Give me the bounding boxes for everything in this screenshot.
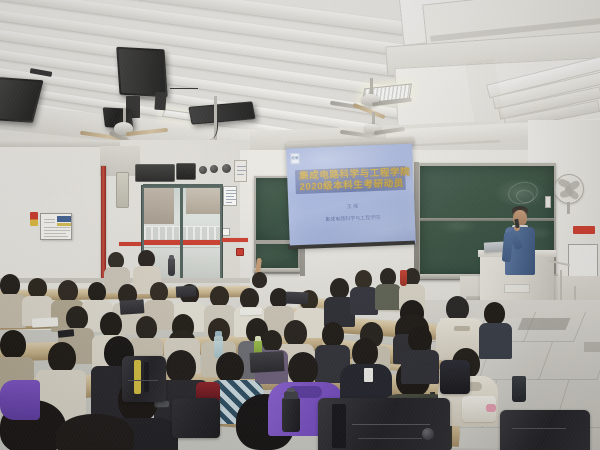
floor-mat	[584, 342, 600, 352]
slide-logo-icon: 校徽	[290, 153, 299, 164]
podium-label	[504, 284, 530, 293]
fire-alarm	[236, 248, 244, 256]
backpack	[172, 398, 220, 438]
notebook	[32, 317, 58, 327]
laptop	[249, 351, 284, 373]
slide-presenter-name: 王 强	[302, 201, 402, 212]
wall-equipment-box	[176, 163, 196, 180]
backpack	[440, 360, 470, 394]
list-item	[0, 380, 40, 420]
lecture-hall-photo: 校徽 集成电路科学与工程学院 2020级本科生考研动员 王 强 集成电路科学与工…	[0, 0, 600, 450]
wall-speaker-dome	[199, 166, 207, 174]
fire-pipe	[101, 166, 106, 278]
wall-camera	[222, 164, 231, 173]
wall-switch[interactable]	[545, 196, 551, 208]
floor-mat	[518, 318, 571, 330]
projection-screen: 校徽 集成电路科学与工程学院 2020级本科生考研动员 王 强 集成电路科学与工…	[286, 144, 416, 249]
backpack	[122, 356, 166, 402]
notice-board	[40, 213, 72, 240]
ceiling-speaker	[116, 47, 168, 97]
water-bottle	[282, 398, 300, 432]
laptop	[176, 285, 197, 297]
wall-monitor	[135, 164, 175, 182]
pink-item	[486, 404, 496, 412]
wall-sensor	[210, 165, 218, 173]
laptop	[286, 292, 308, 305]
slide-logo-label: 校徽	[291, 156, 298, 161]
backpack	[500, 410, 590, 450]
laptop	[120, 299, 145, 315]
wall-sign	[223, 186, 237, 206]
pipe-box	[116, 172, 129, 208]
notebook	[240, 308, 262, 316]
backpack	[318, 398, 450, 450]
presenter	[500, 206, 540, 276]
exit-sign	[573, 226, 595, 234]
wall-tag	[30, 212, 38, 226]
water-bottle	[512, 376, 526, 402]
water-bottle	[400, 270, 407, 286]
wall-panel	[234, 160, 247, 182]
water-bottle	[168, 258, 175, 276]
slide-org-line: 集成电路科学与工程学院	[303, 213, 403, 224]
